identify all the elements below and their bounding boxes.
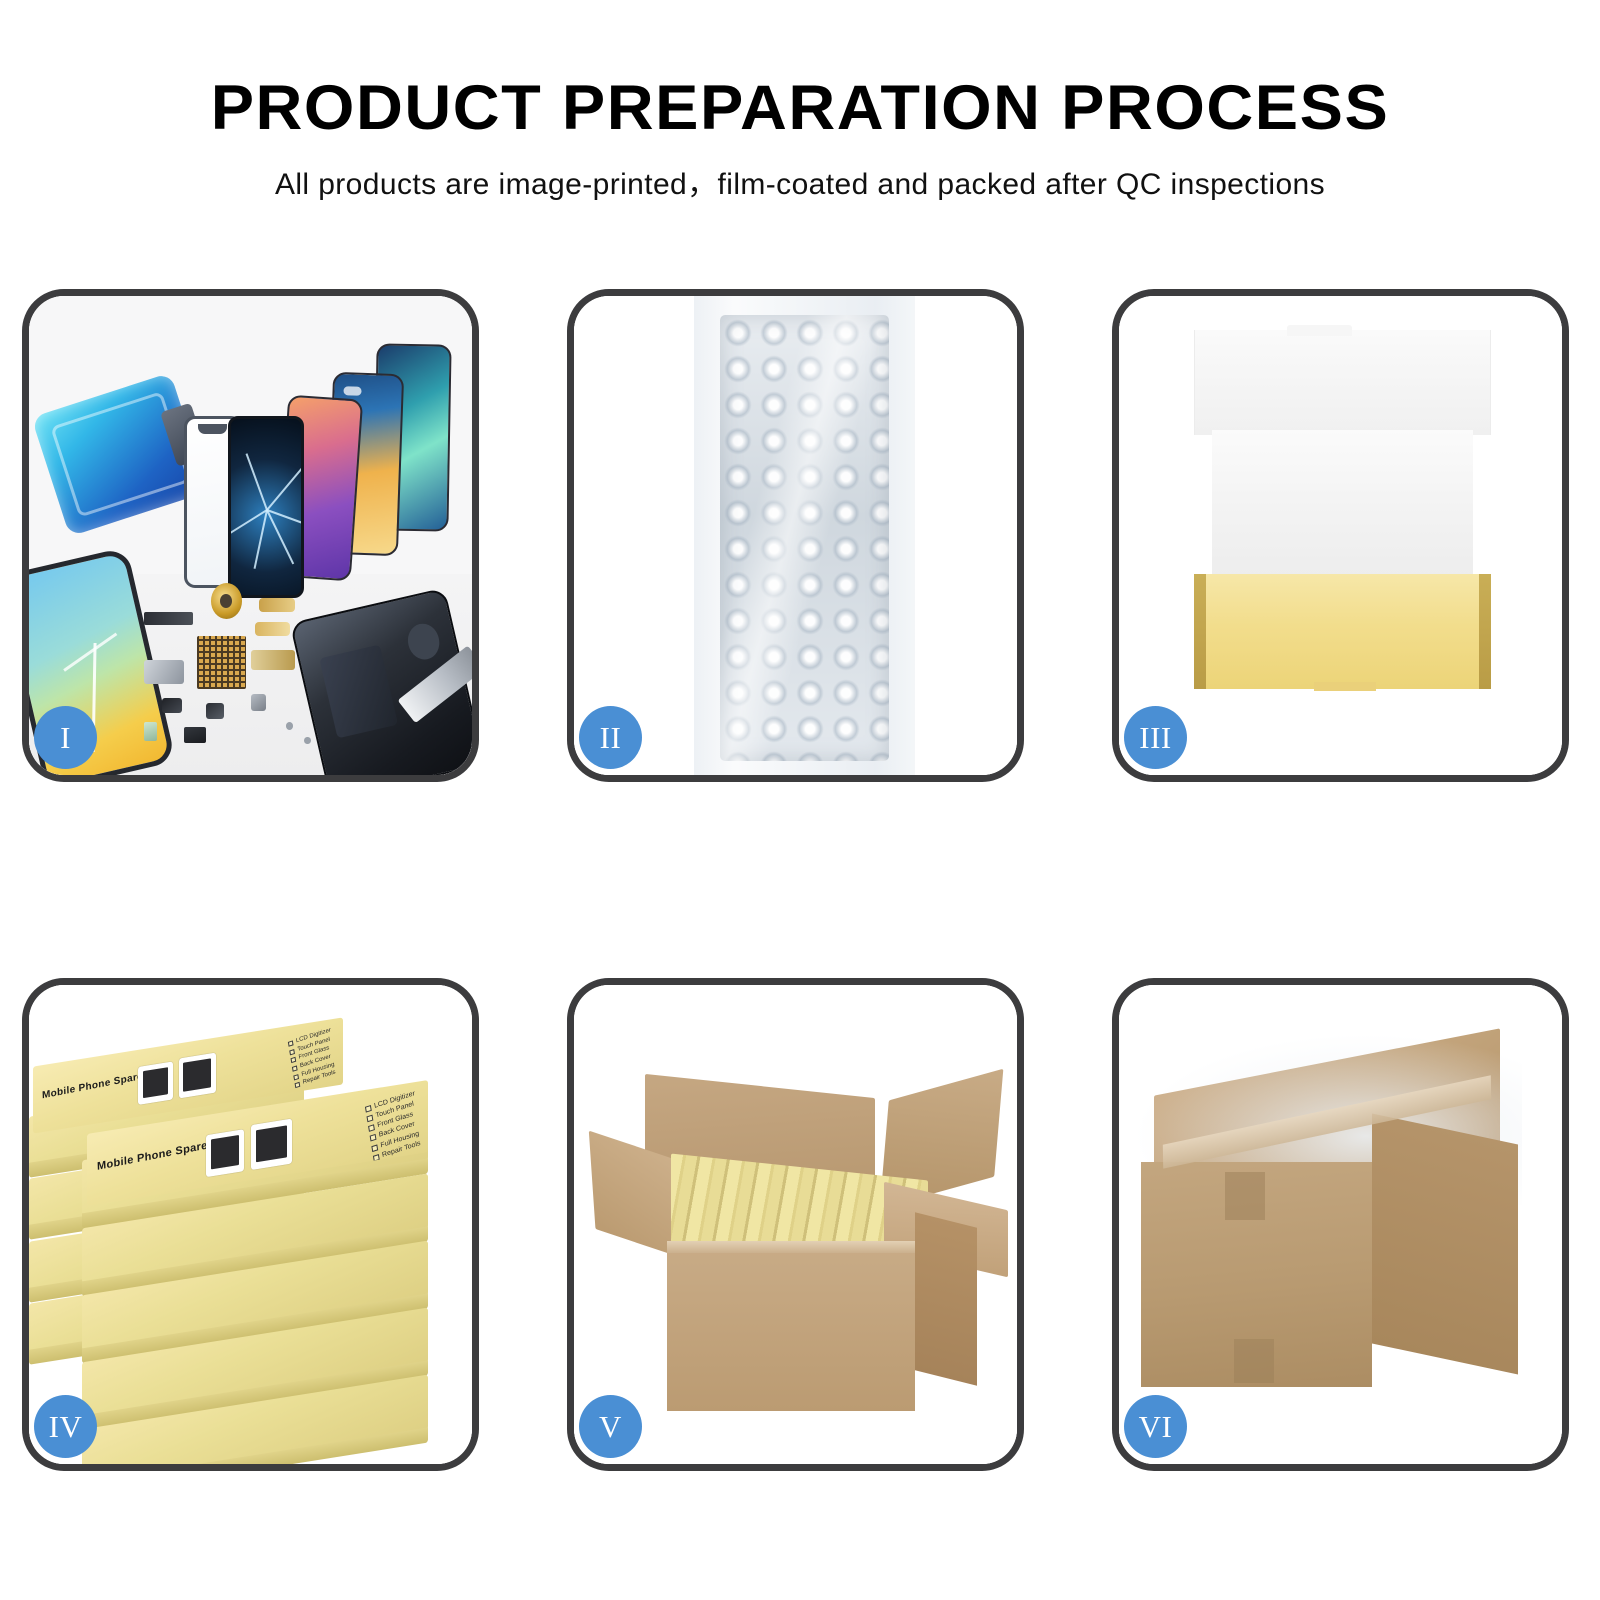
step-image-2 (574, 296, 1017, 775)
bubble-film-sheen (720, 315, 888, 760)
sim-tray-icon (144, 722, 157, 741)
flex-cable-a-icon (259, 598, 294, 612)
ribbon-cable-left-icon (144, 660, 184, 684)
component-part-1-icon (162, 698, 182, 712)
step-image-4: Mobile Phone Spare Parts LCD Digitizer T… (29, 985, 472, 1464)
step-badge-1: I (34, 706, 97, 769)
step-image-6 (1119, 985, 1562, 1464)
mailer-lid-icon (1194, 330, 1491, 435)
component-part-2-icon (206, 703, 224, 719)
step-image-5 (574, 985, 1017, 1464)
infographic-page: PRODUCT PREPARATION PROCESS All products… (0, 0, 1600, 1600)
speaker-bar-icon (144, 612, 193, 624)
speaker-module-icon (184, 727, 206, 743)
sealed-carton-scene (1119, 985, 1562, 1464)
screw-2-icon (304, 737, 311, 745)
gold-coil-icon (211, 583, 242, 618)
open-carton-scene (574, 985, 1017, 1464)
step-panel-1[interactable]: I (22, 289, 479, 782)
step-image-1 (29, 296, 472, 775)
step-badge-5: V (579, 1395, 642, 1458)
step-panel-3[interactable]: III (1112, 289, 1569, 782)
chip-grid-icon (197, 636, 246, 689)
retail-box-stack-scene: Mobile Phone Spare Parts LCD Digitizer T… (29, 985, 472, 1464)
step-image-3 (1119, 296, 1562, 775)
flex-cable-b-icon (255, 622, 290, 636)
page-subtitle: All products are image-printed，film-coat… (0, 159, 1600, 203)
checkbox-icon (371, 1144, 378, 1152)
cracked-lcd-screen-icon (228, 416, 303, 598)
phone-parts-scene (29, 296, 472, 775)
step-badge-6: VI (1124, 1395, 1187, 1458)
mailer-box-scene (1119, 296, 1562, 775)
carton-rim-icon (667, 1241, 915, 1253)
checkbox-icon (368, 1125, 375, 1133)
step-panel-4[interactable]: Mobile Phone Spare Parts LCD Digitizer T… (22, 978, 479, 1471)
mailer-inner-wall-icon (1212, 430, 1473, 588)
box-phone-thumbnail-2 (250, 1119, 291, 1170)
checkbox-icon (366, 1115, 373, 1123)
carton-handle-tab-bottom-icon (1234, 1339, 1274, 1382)
checkbox-icon (295, 1082, 301, 1088)
step-panel-2[interactable]: II (567, 289, 1024, 782)
bubble-wrap-scene (574, 296, 1017, 775)
box-phone-thumbnail-1 (139, 1062, 173, 1105)
box-phone-thumbnail-2 (179, 1053, 216, 1099)
step-badge-2: II (579, 706, 642, 769)
mailer-tab-icon (1314, 682, 1376, 692)
step-badge-4: IV (34, 1395, 97, 1458)
step-badge-3: III (1124, 706, 1187, 769)
step-panel-5[interactable]: V (567, 978, 1024, 1471)
component-part-3-icon (251, 694, 266, 711)
process-steps-grid: I II (22, 289, 1588, 1471)
box-checklist: LCD Digitizer Touch Panel Front Glass Ba… (364, 1089, 423, 1163)
page-title: PRODUCT PREPARATION PROCESS (0, 74, 1600, 142)
checkbox-icon (370, 1135, 377, 1143)
carton-body-icon (667, 1248, 915, 1411)
box-checklist: LCD Digitizer Touch Panel Front Glass Ba… (288, 1027, 339, 1091)
box-phone-thumbnail-1 (206, 1129, 244, 1177)
step-panel-6[interactable]: VI (1112, 978, 1569, 1471)
header: PRODUCT PREPARATION PROCESS All products… (0, 74, 1600, 203)
carton-handle-tab-top-icon (1225, 1172, 1265, 1220)
ribbon-cable-right-icon (251, 650, 295, 669)
blue-adhesive-frame-icon (31, 372, 209, 536)
mailer-front-panel-icon (1194, 574, 1491, 689)
checkbox-icon (365, 1105, 372, 1113)
sealed-carton-side-icon (1372, 1113, 1518, 1374)
carton-side-icon (915, 1212, 977, 1386)
screw-1-icon (286, 722, 293, 730)
